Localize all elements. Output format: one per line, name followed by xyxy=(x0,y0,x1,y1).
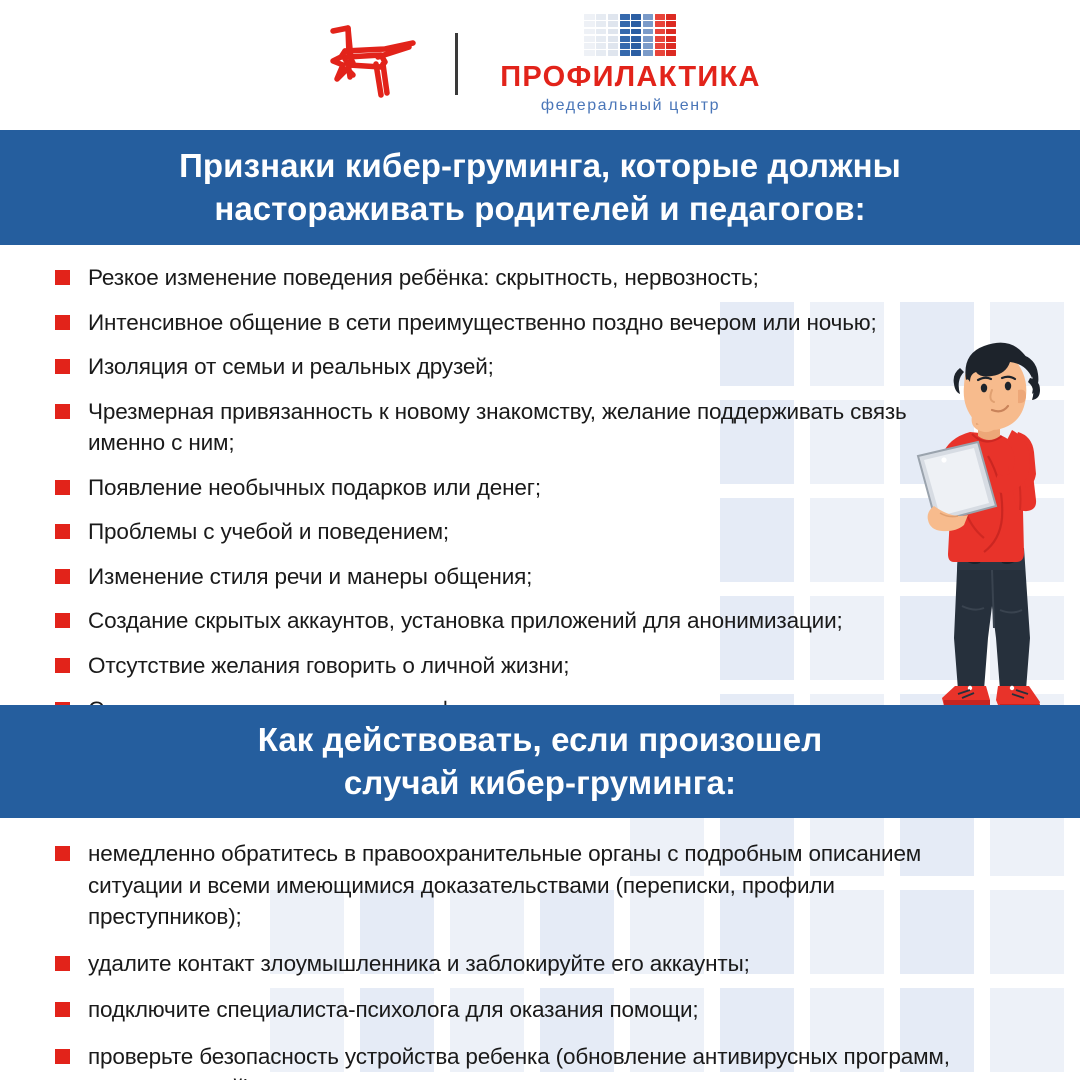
warning-sign-item: Чрезмерная привязанность к новому знаком… xyxy=(55,396,1020,459)
logo-pixel xyxy=(666,29,676,35)
warning-sign-item-text: Отсутствие желания говорить о личной жиз… xyxy=(88,650,569,682)
logo-pixel xyxy=(655,43,665,49)
logo-pixel xyxy=(584,14,594,20)
bullet-square-icon xyxy=(55,658,70,673)
logo-pixel xyxy=(620,50,630,56)
logo-divider xyxy=(455,33,458,95)
warning-sign-item-text: Изоляция от семьи и реальных друзей; xyxy=(88,351,494,383)
logo-pixel xyxy=(643,29,653,35)
logo-wordmark: ПРОФИЛАКТИКА xyxy=(500,63,760,92)
logo-pixel xyxy=(620,29,630,35)
warning-sign-item-text: Появление необычных подарков или денег; xyxy=(88,472,541,504)
banner-1-line-1: Признаки кибер-груминга, которые должны xyxy=(179,145,901,187)
warning-sign-item-text: Проблемы с учебой и поведением; xyxy=(88,516,449,548)
logo-pixel xyxy=(584,43,594,49)
logo-pixel xyxy=(643,36,653,42)
logo-pixel xyxy=(666,50,676,56)
logo-pixel xyxy=(666,43,676,49)
bullet-square-icon xyxy=(55,846,70,861)
logo-pixel xyxy=(584,36,594,42)
infographic-poster: ПРОФИЛАКТИКА федеральный центр Признаки … xyxy=(0,0,1080,1080)
logo-pixel xyxy=(608,29,618,35)
action-step-item-text: немедленно обратитесь в правоохранительн… xyxy=(88,838,978,933)
logo-pixel xyxy=(655,14,665,20)
logo-pixel xyxy=(631,50,641,56)
banner-2-line-2: случай кибер-груминга: xyxy=(344,762,736,804)
logo-pixel xyxy=(596,29,606,35)
bullet-square-icon xyxy=(55,315,70,330)
bullet-square-icon xyxy=(55,956,70,971)
logo-pixel xyxy=(596,36,606,42)
logo-pixel xyxy=(655,21,665,27)
bullet-square-icon xyxy=(55,613,70,628)
logo-pixel xyxy=(608,36,618,42)
young-man-with-tablet-thinking-illustration xyxy=(900,338,1080,720)
logo-pixel xyxy=(608,50,618,56)
warning-sign-item: Появление необычных подарков или денег; xyxy=(55,472,1020,504)
action-step-item-text: проверьте безопасность устройства ребенк… xyxy=(88,1041,978,1080)
bullet-square-icon xyxy=(55,1002,70,1017)
logo-pixel xyxy=(620,21,630,27)
logo-header: ПРОФИЛАКТИКА федеральный центр xyxy=(0,0,1080,128)
logo-pixel xyxy=(655,50,665,56)
warning-sign-item-text: Чрезмерная привязанность к новому знаком… xyxy=(88,396,978,459)
pixel-grid-icon xyxy=(584,14,676,56)
warning-sign-item-text: Резкое изменение поведения ребёнка: скры… xyxy=(88,262,759,294)
bullet-square-icon xyxy=(55,270,70,285)
logo-pixel xyxy=(596,43,606,49)
logo-pixel xyxy=(655,36,665,42)
warning-sign-item: Резкое изменение поведения ребёнка: скры… xyxy=(55,262,1020,294)
bullet-square-icon xyxy=(55,569,70,584)
logo-pixel xyxy=(596,50,606,56)
logo-subtitle: федеральный центр xyxy=(541,98,720,114)
logo-pixel xyxy=(620,14,630,20)
logo-pixel xyxy=(631,21,641,27)
logo-pixel xyxy=(631,14,641,20)
action-step-item-text: подключите специалиста-психолога для ока… xyxy=(88,994,698,1026)
logo-pixel xyxy=(643,50,653,56)
warning-sign-item-text: Изменение стиля речи и манеры общения; xyxy=(88,561,532,593)
logo-pixel xyxy=(631,29,641,35)
logo-pixel xyxy=(608,21,618,27)
action-step-item-text: удалите контакт злоумышленника и заблоки… xyxy=(88,948,750,980)
warning-sign-item: Изоляция от семьи и реальных друзей; xyxy=(55,351,1020,383)
warning-sign-item-text: Интенсивное общение в сети преимуществен… xyxy=(88,307,877,339)
bullet-square-icon xyxy=(55,480,70,495)
warning-sign-item: Проблемы с учебой и поведением; xyxy=(55,516,1020,548)
warning-sign-item: Создание скрытых аккаунтов, установка пр… xyxy=(55,605,1020,637)
logo-pixel xyxy=(643,14,653,20)
logo-pixel xyxy=(596,21,606,27)
banner-2-line-1: Как действовать, если произошел xyxy=(258,719,823,761)
action-step-item: удалите контакт злоумышленника и заблоки… xyxy=(55,948,1020,980)
logo-pixel xyxy=(596,14,606,20)
action-step-item: немедленно обратитесь в правоохранительн… xyxy=(55,838,1020,933)
logo-pixel xyxy=(608,43,618,49)
logo-pixel xyxy=(666,14,676,20)
bullet-square-icon xyxy=(55,404,70,419)
logo-pixel xyxy=(666,21,676,27)
logo-pixel xyxy=(631,36,641,42)
warning-sign-item: Отсутствие желания говорить о личной жиз… xyxy=(55,650,1020,682)
profilaktika-logo: ПРОФИЛАКТИКА федеральный центр xyxy=(500,14,760,114)
bullet-square-icon xyxy=(55,359,70,374)
warning-sign-item: Изменение стиля речи и манеры общения; xyxy=(55,561,1020,593)
logo-pixel xyxy=(620,43,630,49)
logo-pixel xyxy=(631,43,641,49)
action-steps-list: немедленно обратитесь в правоохранительн… xyxy=(0,828,1080,1080)
horse-line-art-icon xyxy=(319,14,437,114)
section-header-banner-2: Как действовать, если произошел случай к… xyxy=(0,705,1080,818)
warning-sign-item: Интенсивное общение в сети преимуществен… xyxy=(55,307,1020,339)
logo-pixel xyxy=(643,21,653,27)
logo-pixel xyxy=(643,43,653,49)
bullet-square-icon xyxy=(55,524,70,539)
logo-pixel xyxy=(620,36,630,42)
logo-pixel xyxy=(666,36,676,42)
logo-pixel xyxy=(584,21,594,27)
logo-pixel xyxy=(608,14,618,20)
warning-sign-item-text: Создание скрытых аккаунтов, установка пр… xyxy=(88,605,843,637)
section-header-banner-1: Признаки кибер-груминга, которые должны … xyxy=(0,130,1080,245)
logo-pixel xyxy=(655,29,665,35)
action-step-item: проверьте безопасность устройства ребенк… xyxy=(55,1041,1020,1080)
logo-pixel xyxy=(584,29,594,35)
logo-pixel xyxy=(584,50,594,56)
banner-1-line-2: настораживать родителей и педагогов: xyxy=(214,188,865,230)
bullet-square-icon xyxy=(55,1049,70,1064)
action-step-item: подключите специалиста-психолога для ока… xyxy=(55,994,1020,1026)
